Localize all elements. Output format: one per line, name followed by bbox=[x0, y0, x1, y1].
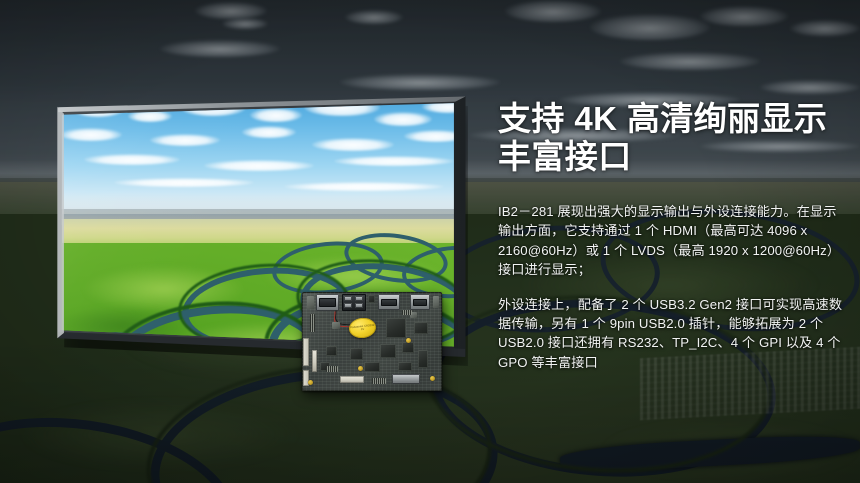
header-fan bbox=[402, 310, 412, 315]
battery-label: Panasonic CR2032 3V bbox=[348, 317, 377, 340]
sbc-board: Panasonic CR2032 3V bbox=[302, 292, 442, 391]
header-usb2-9pin bbox=[340, 376, 364, 383]
headline-line-2: 丰富接口 bbox=[498, 138, 844, 176]
chip-controller bbox=[380, 344, 396, 358]
inductor bbox=[332, 322, 340, 329]
header-gpio bbox=[326, 366, 338, 372]
screen-cloud bbox=[150, 134, 220, 146]
mounting-screw bbox=[430, 376, 435, 381]
chip-small bbox=[326, 346, 337, 356]
pcb-substrate: Panasonic CR2032 3V bbox=[302, 292, 442, 391]
connector-lvds-edge bbox=[303, 338, 309, 366]
screen-cloud bbox=[114, 178, 254, 187]
paragraph-peripheral-io: 外设连接上，配备了 2 个 USB3.2 Gen2 接口可实现高速数据传输，另有… bbox=[498, 295, 844, 373]
chip-regulator bbox=[418, 350, 428, 368]
port-rj45-opening bbox=[319, 298, 336, 307]
chip-soc bbox=[386, 318, 406, 338]
screen-cloud bbox=[84, 154, 180, 165]
mounting-screw bbox=[308, 380, 313, 385]
chip-small bbox=[364, 362, 380, 372]
screen-cloud bbox=[204, 160, 314, 171]
text-panel: 支持 4K 高清绚丽显示 丰富接口 IB2－281 展现出强大的显示输出与外设连… bbox=[498, 100, 844, 372]
chip-small bbox=[402, 342, 414, 353]
body-copy: IB2－281 展现出强大的显示输出与外设连接能力。在显示输出方面，它支持通过 … bbox=[498, 176, 844, 372]
port-usb3-upper bbox=[355, 296, 363, 301]
port-hdmi-opening bbox=[381, 299, 397, 306]
screen-cloud bbox=[312, 138, 394, 151]
header-rs232 bbox=[372, 378, 386, 384]
mounting-screw bbox=[406, 338, 411, 343]
screen-cloud bbox=[284, 182, 444, 191]
coin-cell-battery: Panasonic CR2032 3V bbox=[348, 317, 377, 340]
port-lvds-opening bbox=[413, 299, 427, 306]
slide-canvas: Panasonic CR2032 3V bbox=[0, 0, 860, 483]
screen-cloud bbox=[334, 156, 454, 166]
connector-bottom-metal bbox=[392, 374, 420, 384]
io-shield-tab bbox=[307, 296, 314, 309]
pin-header-left bbox=[310, 314, 315, 332]
paragraph-display-output: IB2－281 展现出强大的显示输出与外设连接能力。在显示输出方面，它支持通过 … bbox=[498, 202, 844, 280]
page-title: 支持 4K 高清绚丽显示 丰富接口 bbox=[498, 100, 844, 176]
screen-cloud bbox=[60, 128, 122, 141]
screen-cloud bbox=[374, 112, 432, 126]
io-shield-tab bbox=[433, 296, 439, 308]
headline-line-1: 支持 4K 高清绚丽显示 bbox=[498, 100, 844, 138]
port-usb3-upper bbox=[344, 296, 352, 301]
port-usb3-lower bbox=[344, 303, 352, 308]
mounting-screw bbox=[358, 366, 363, 371]
screen-cloud bbox=[250, 108, 302, 122]
screen-cloud bbox=[242, 126, 296, 138]
port-usb3-lower bbox=[355, 303, 363, 308]
connector-side-white bbox=[312, 350, 317, 372]
chip-small bbox=[398, 362, 412, 371]
small-header bbox=[368, 295, 375, 303]
chip-small bbox=[350, 348, 363, 360]
chip-memory bbox=[414, 322, 428, 334]
